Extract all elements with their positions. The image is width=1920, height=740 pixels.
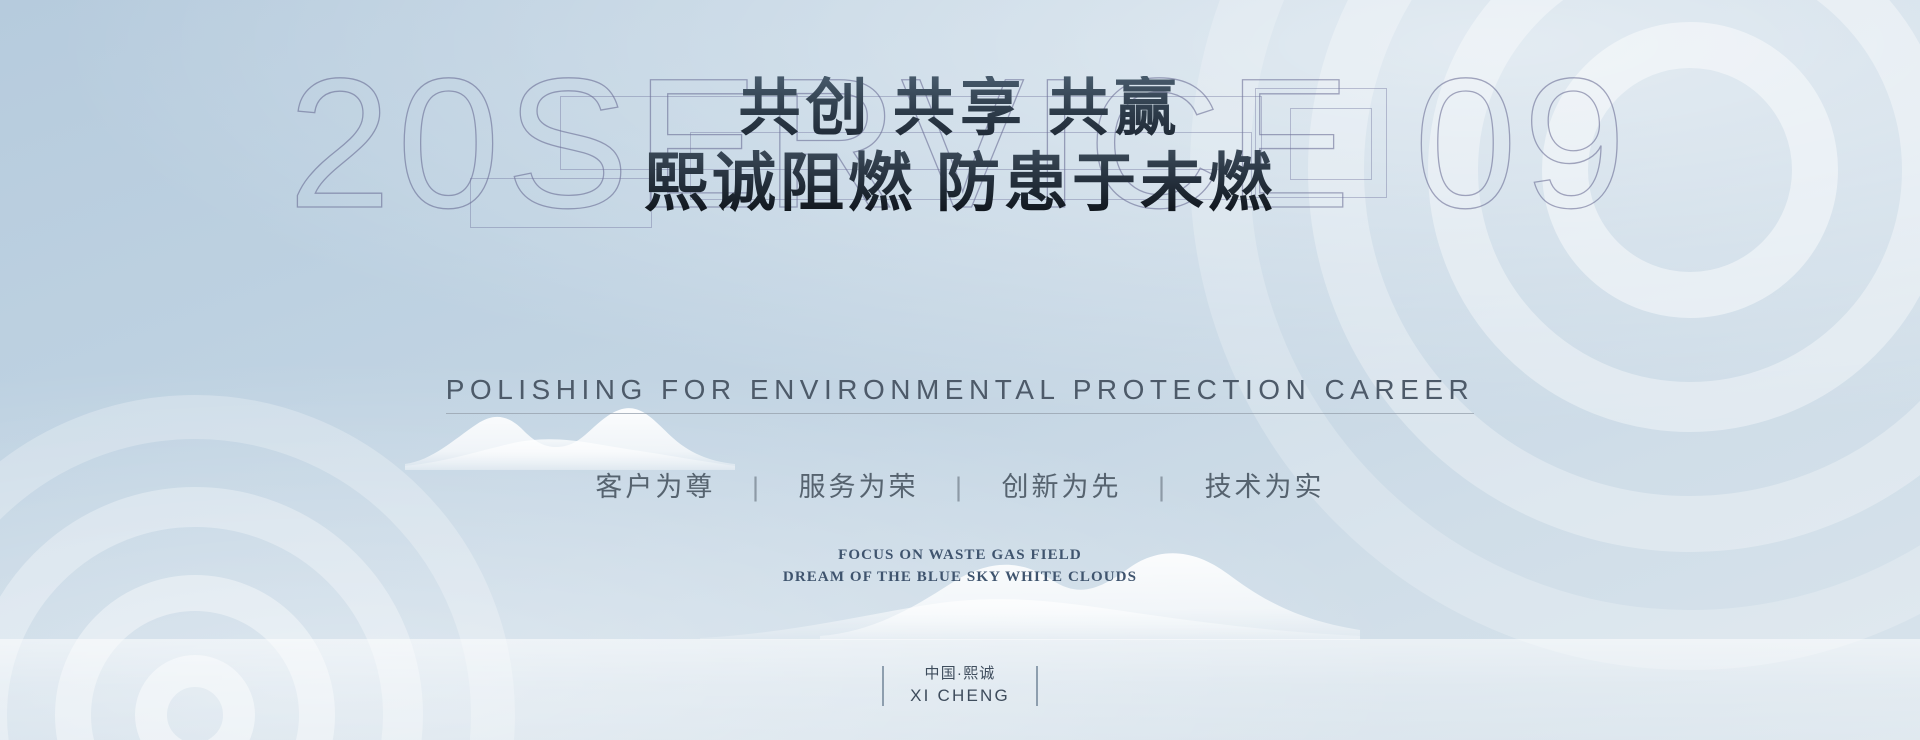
value-item-3: 创新为先 xyxy=(1002,465,1122,504)
serif-subtitle-line-2: DREAM OF THE BLUE SKY WHITE CLOUDS xyxy=(0,567,1920,589)
tagline-wrapper: POLISHING FOR ENVIRONMENTAL PROTECTION C… xyxy=(0,374,1920,414)
value-separator-1: | xyxy=(752,472,762,503)
headline-block: 共创 共享 共赢 熙诚阻燃 防患于未燃 xyxy=(0,76,1920,218)
value-item-2: 服务为荣 xyxy=(798,465,918,504)
promotional-banner: 20SERVICE 09 xyxy=(0,0,1920,740)
headline-line-1: 共创 共享 共赢 xyxy=(0,76,1920,143)
headline-line-2: 熙诚阻燃 防患于未燃 xyxy=(0,149,1920,218)
serif-subtitle-line-1: FOCUS ON WASTE GAS FIELD xyxy=(0,545,1920,567)
serif-subtitle-block: FOCUS ON WASTE GAS FIELD DREAM OF THE BL… xyxy=(0,545,1920,589)
brand-mark: 中国·熙诚 XI CHENG xyxy=(0,663,1920,708)
brand-text: 中国·熙诚 XI CHENG xyxy=(910,663,1010,708)
value-propositions-row: 客户为尊 | 服务为荣 | 创新为先 | 技术为实 xyxy=(0,465,1920,504)
value-item-1: 客户为尊 xyxy=(595,465,715,504)
brand-name-cn: 中国·熙诚 xyxy=(910,663,1010,685)
english-tagline: POLISHING FOR ENVIRONMENTAL PROTECTION C… xyxy=(446,374,1474,414)
value-separator-3: | xyxy=(1158,472,1168,503)
value-item-4: 技术为实 xyxy=(1205,465,1325,504)
brand-divider-left xyxy=(882,666,884,706)
value-separator-2: | xyxy=(955,472,965,503)
brand-divider-right xyxy=(1036,666,1038,706)
brand-name-en: XI CHENG xyxy=(910,685,1010,708)
